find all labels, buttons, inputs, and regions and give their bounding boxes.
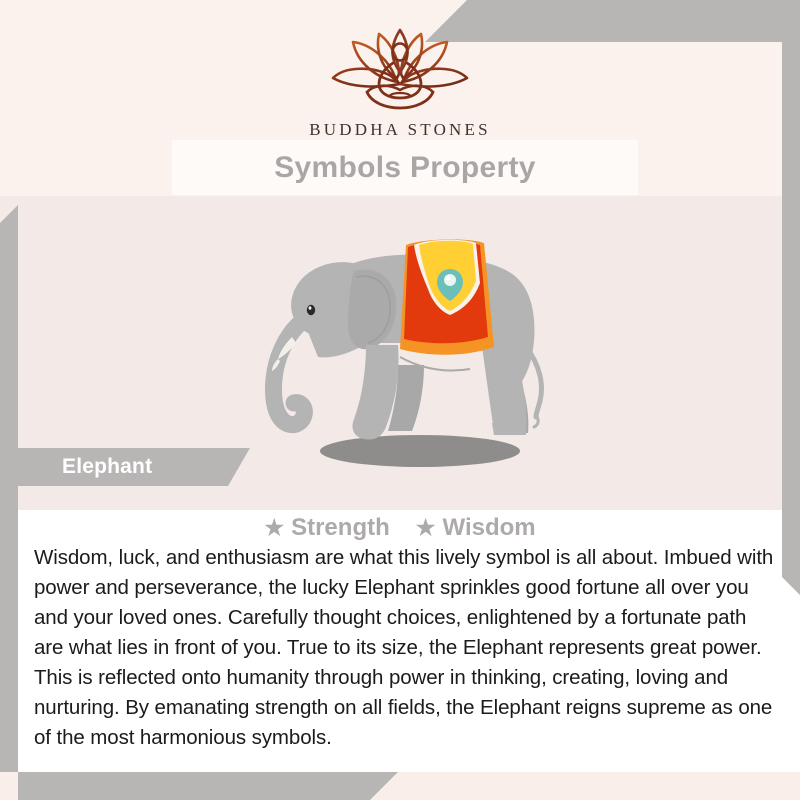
symbol-name-label: Elephant (62, 455, 152, 479)
brand-name: BUDDHA STONES (309, 120, 491, 140)
page-title-band: Symbols Property (172, 140, 638, 195)
lotus-meditation-icon (305, 22, 495, 114)
trait-wisdom: ★ Wisdom (416, 514, 536, 542)
star-icon: ★ (264, 517, 284, 539)
star-icon: ★ (416, 517, 436, 539)
frame-accent-bottom-icon (18, 772, 398, 800)
trait-strength: ★ Strength (264, 514, 389, 542)
trait-wisdom-label: Wisdom (443, 514, 536, 542)
frame-accent-left-icon (0, 205, 18, 772)
elephant-illustration (248, 225, 578, 490)
elephant-eye-icon (307, 305, 315, 315)
trait-strength-label: Strength (291, 514, 390, 542)
brand-logo: BUDDHA STONES (0, 22, 800, 140)
symbol-description: Wisdom, luck, and enthusiasm are what th… (34, 543, 774, 753)
symbol-traits: ★ Strength ★ Wisdom (0, 514, 800, 542)
elephant-shadow-icon (320, 435, 520, 467)
symbol-name-banner: Elephant (0, 448, 250, 486)
page-title: Symbols Property (274, 151, 536, 185)
